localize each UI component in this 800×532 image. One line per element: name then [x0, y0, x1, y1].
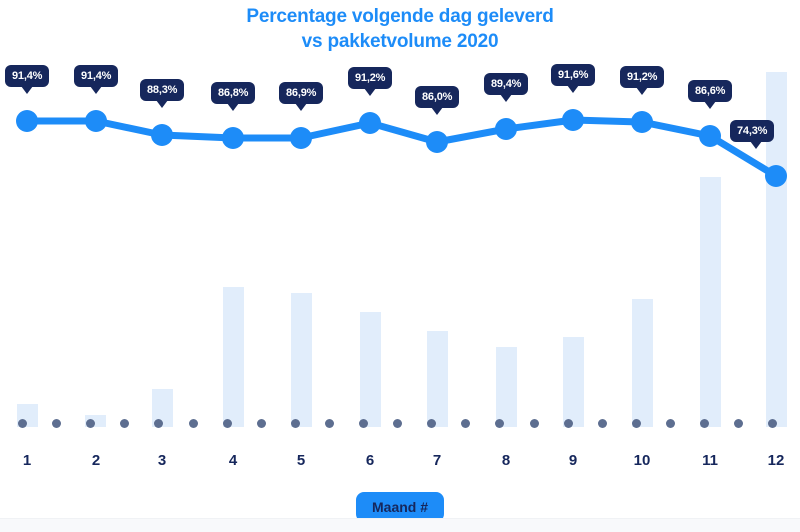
x-axis-tick-label: 9 — [553, 452, 593, 469]
x-axis-tick-label: 4 — [213, 452, 253, 469]
line-data-point[interactable] — [85, 110, 107, 132]
chart-root: Percentage volgende dag geleverd vs pakk… — [0, 0, 800, 532]
value-label-bubble: 89,4% — [484, 73, 528, 95]
x-axis-tick-label: 11 — [690, 452, 730, 469]
line-data-point[interactable] — [699, 125, 721, 147]
x-axis-tick-label: 1 — [7, 452, 47, 469]
line-series-path — [27, 120, 776, 176]
line-data-point[interactable] — [16, 110, 38, 132]
line-data-point[interactable] — [426, 131, 448, 153]
bottom-strip — [0, 518, 800, 532]
value-label-bubble: 91,2% — [620, 66, 664, 88]
line-series-svg — [0, 0, 800, 440]
value-label-bubble: 88,3% — [140, 79, 184, 101]
value-label-bubble: 91,4% — [5, 65, 49, 87]
value-label-bubble: 86,9% — [279, 82, 323, 104]
value-label-bubble: 91,6% — [551, 64, 595, 86]
x-axis-tick-label: 5 — [281, 452, 321, 469]
value-label-bubble: 86,6% — [688, 80, 732, 102]
value-label-bubble: 86,0% — [415, 86, 459, 108]
value-label-bubble: 86,8% — [211, 82, 255, 104]
x-axis-tick-label: 8 — [486, 452, 526, 469]
line-data-point[interactable] — [631, 111, 653, 133]
line-data-point[interactable] — [151, 124, 173, 146]
value-label-bubble: 91,4% — [74, 65, 118, 87]
x-axis-tick-label: 2 — [76, 452, 116, 469]
line-data-point[interactable] — [495, 118, 517, 140]
value-label-bubble: 74,3% — [730, 120, 774, 142]
line-data-point[interactable] — [222, 127, 244, 149]
value-label-bubble: 91,2% — [348, 67, 392, 89]
plot-area: 91,4%91,4%88,3%86,8%86,9%91,2%86,0%89,4%… — [0, 0, 800, 440]
line-data-point[interactable] — [359, 112, 381, 134]
x-axis-tick-label: 10 — [622, 452, 662, 469]
line-data-point[interactable] — [562, 109, 584, 131]
x-axis-tick-label: 12 — [756, 452, 796, 469]
x-axis-tick-label: 7 — [417, 452, 457, 469]
line-data-point[interactable] — [765, 165, 787, 187]
x-axis-tick-label: 6 — [350, 452, 390, 469]
line-data-point[interactable] — [290, 127, 312, 149]
x-axis-tick-label: 3 — [142, 452, 182, 469]
